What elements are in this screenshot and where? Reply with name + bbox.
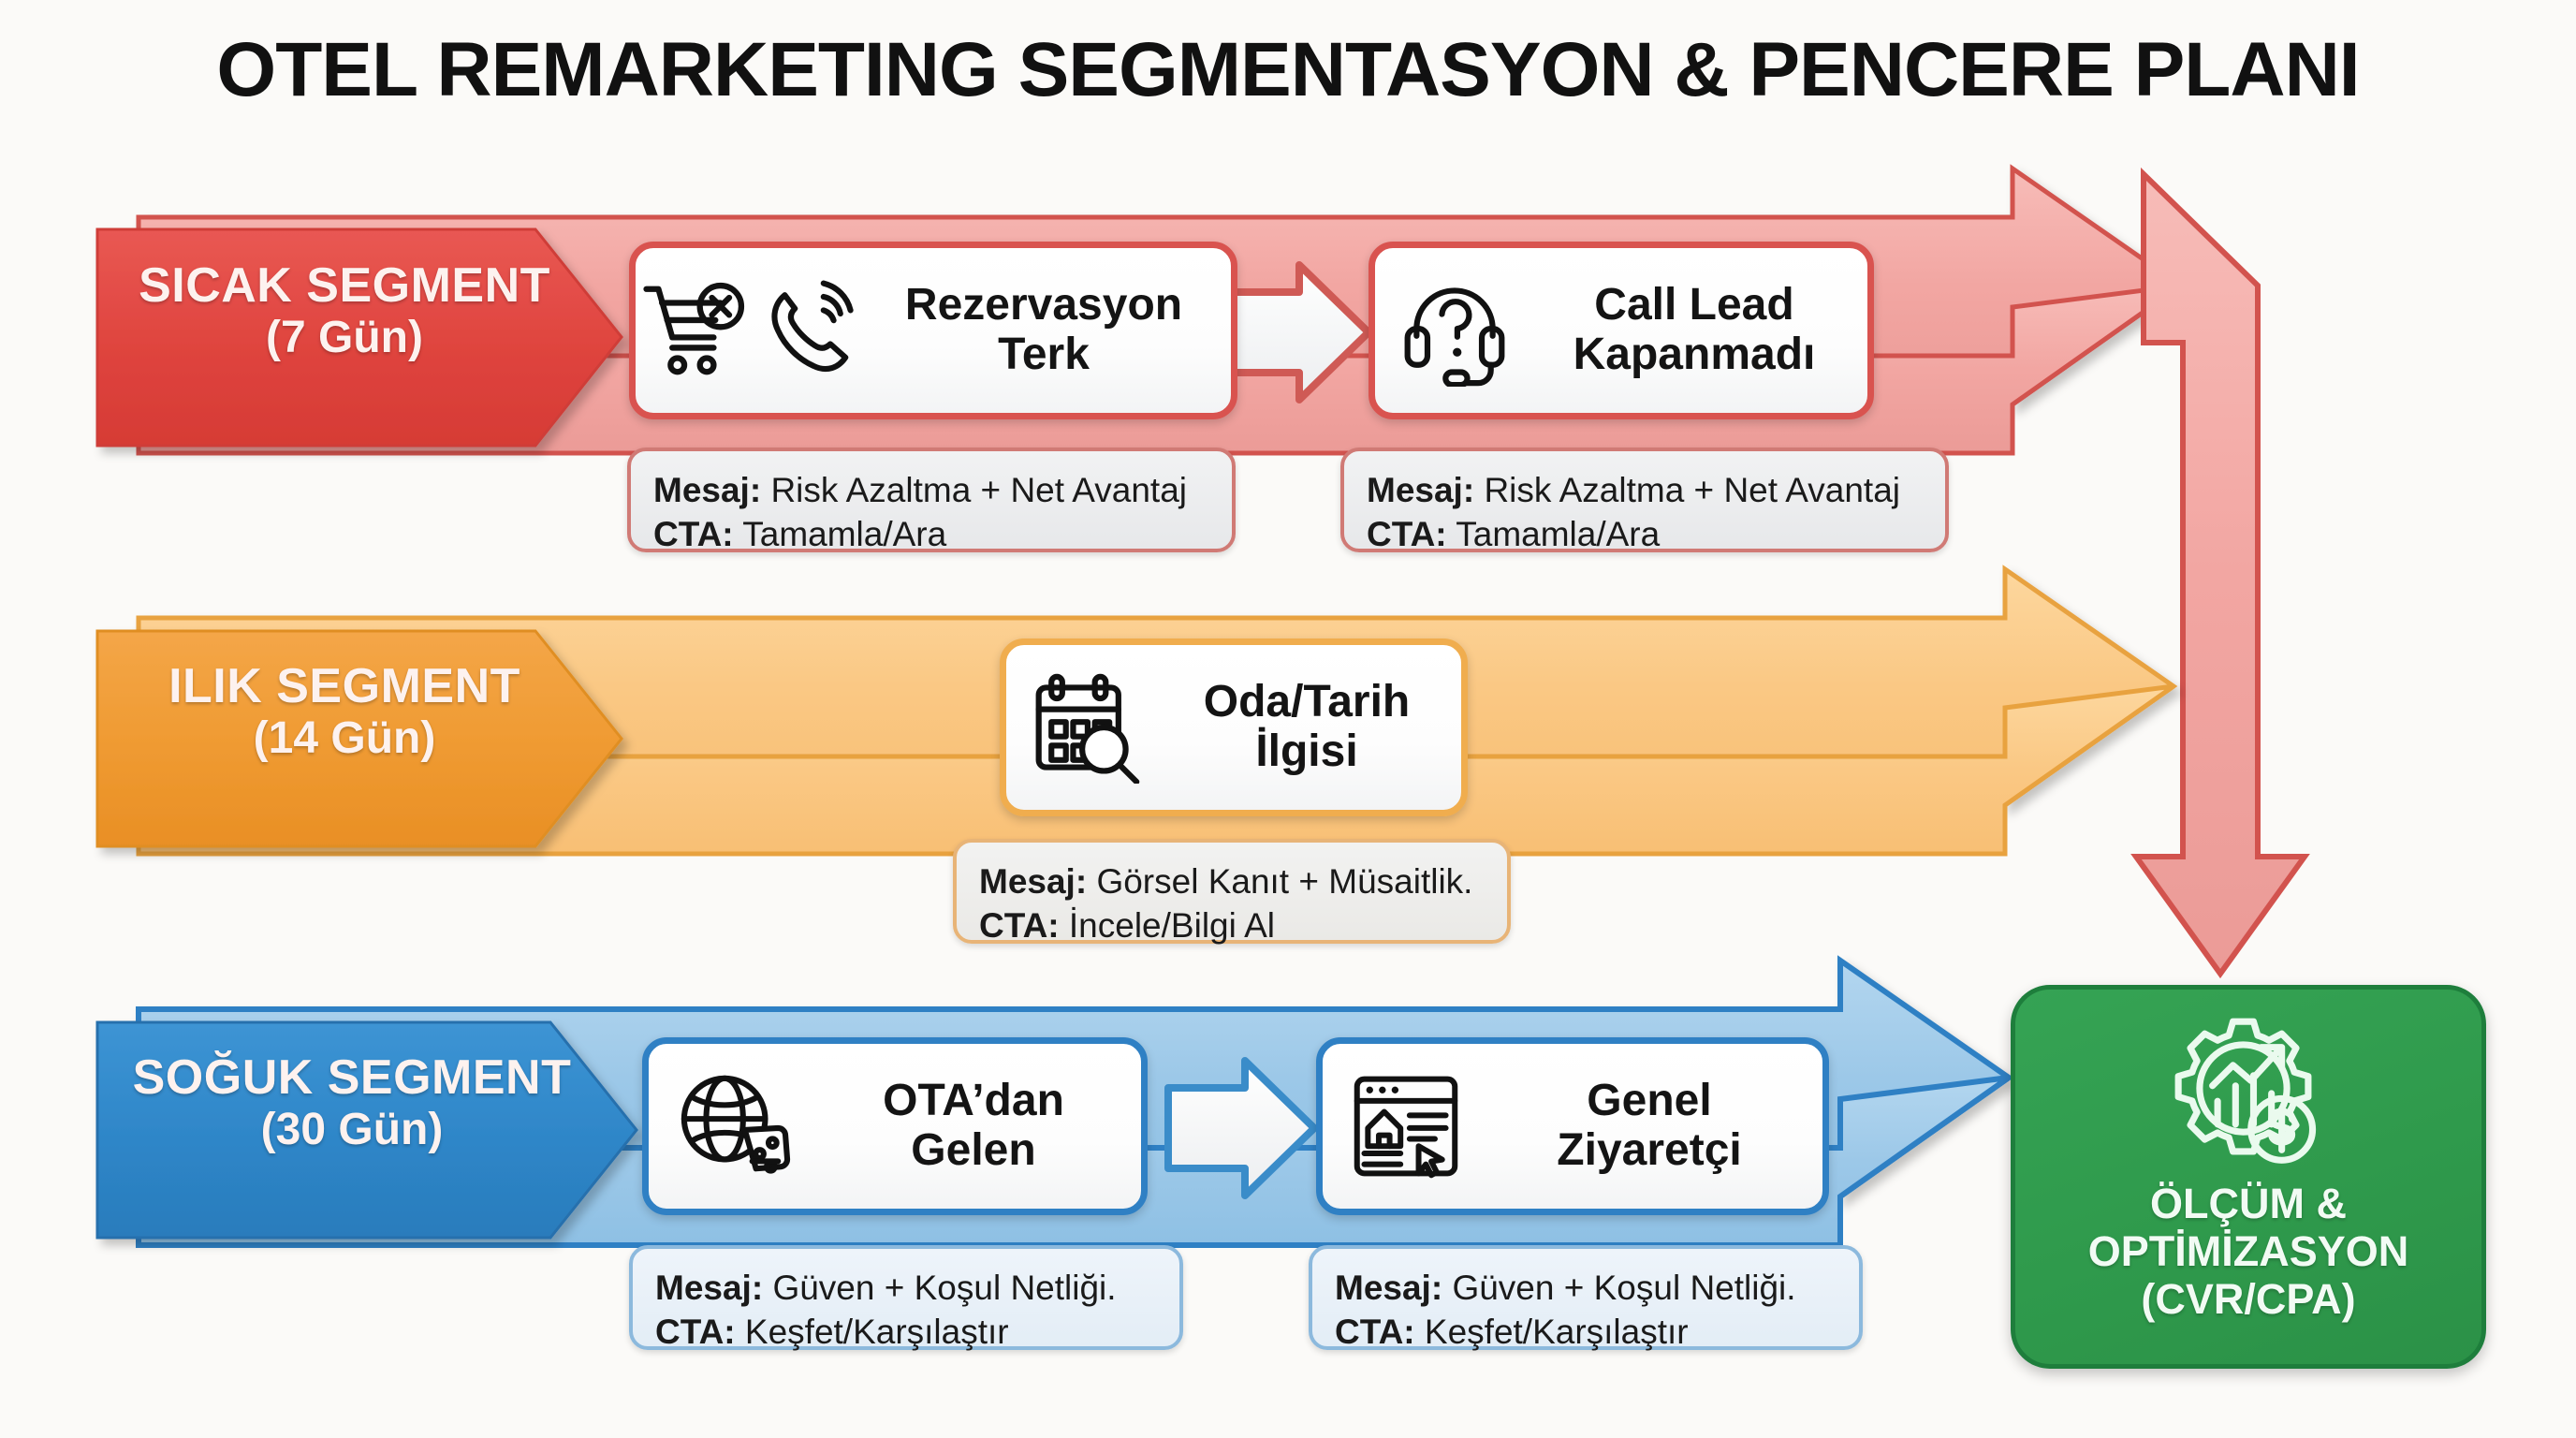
gear-growth-dollar-icon <box>2166 1014 2331 1173</box>
segment-label-hot-line2: (7 Gün) <box>110 313 578 363</box>
card-title-line1: Oda/Tarih <box>1204 677 1410 726</box>
cold-card-connector-arrow <box>1168 1061 1314 1196</box>
segment-label-warm-line2: (14 Gün) <box>110 713 578 764</box>
hot-band-to-outcome-connector <box>2087 169 2305 1041</box>
message-value: Güven + Koşul Netliği. <box>1452 1269 1795 1307</box>
card-title: Call Lead Kapanmadı <box>1534 281 1867 380</box>
abandoned-cart-icon <box>641 278 752 383</box>
cta-value: Keşfet/Karşılaştır <box>745 1313 1009 1351</box>
cta-line: CTA: Keşfet/Karşılaştır <box>655 1310 1161 1354</box>
message-label: Mesaj: <box>1335 1269 1442 1307</box>
segment-label-hot: SICAK SEGMENT (7 Gün) <box>110 258 578 363</box>
message-line: Mesaj: Görsel Kanıt + Müsaitlik. <box>979 859 1488 903</box>
card-otadan-gelen[interactable]: OTA’dan Gelen <box>642 1037 1148 1215</box>
cta-label: CTA: <box>1367 515 1447 553</box>
message-value: Risk Azaltma + Net Avantaj <box>1484 471 1900 509</box>
cta-label: CTA: <box>655 1313 736 1351</box>
segment-label-hot-line1: SICAK SEGMENT <box>110 258 578 313</box>
segment-label-warm: ILIK SEGMENT (14 Gün) <box>110 659 578 764</box>
cta-line: CTA: Tamamla/Ara <box>1367 512 1926 556</box>
cta-value: İncele/Bilgi Al <box>1069 906 1275 945</box>
cta-label: CTA: <box>979 906 1060 945</box>
ringing-phone-icon <box>763 278 864 383</box>
card-title-line1: Genel <box>1587 1076 1711 1125</box>
cta-line: CTA: Keşfet/Karşılaştır <box>1335 1310 1840 1354</box>
message-box-hot-1: Mesaj: Risk Azaltma + Net Avantaj CTA: T… <box>627 448 1236 552</box>
message-label: Mesaj: <box>655 1269 763 1307</box>
segment-label-warm-line1: ILIK SEGMENT <box>110 659 578 713</box>
card-icon-group <box>636 278 870 383</box>
card-title-line1: Call Lead <box>1594 280 1793 330</box>
message-label: Mesaj: <box>653 471 761 509</box>
card-title-line2: İlgisi <box>1255 726 1357 776</box>
card-title: OTA’dan Gelen <box>819 1077 1141 1176</box>
card-title: Rezervasyon Terk <box>870 281 1231 380</box>
segment-label-cold-line2: (30 Gün) <box>109 1105 595 1155</box>
outcome-title: ÖLÇÜM & OPTİMİZASYON (CVR/CPA) <box>2088 1181 2409 1324</box>
card-title: Oda/Tarih İlgisi <box>1165 678 1461 777</box>
cta-value: Keşfet/Karşılaştır <box>1425 1313 1689 1351</box>
card-title-line2: Terk <box>998 330 1090 379</box>
cta-line: CTA: İncele/Bilgi Al <box>979 903 1488 947</box>
segment-label-cold-line1: SOĞUK SEGMENT <box>109 1050 595 1105</box>
message-label: Mesaj: <box>979 862 1087 901</box>
cta-value: Tamamla/Ara <box>742 515 946 553</box>
cta-value: Tamamla/Ara <box>1456 515 1660 553</box>
hot-card-connector-arrow <box>1222 265 1368 400</box>
message-value: Risk Azaltma + Net Avantaj <box>770 471 1187 509</box>
cta-line: CTA: Tamamla/Ara <box>653 512 1213 556</box>
infographic-canvas: OTEL REMARKETING SEGMENTASYON & PENCERE … <box>0 0 2576 1438</box>
card-title-line2: Ziyaretçi <box>1557 1125 1741 1175</box>
card-icon-group <box>649 1069 819 1183</box>
message-value: Görsel Kanıt + Müsaitlik. <box>1096 862 1472 901</box>
message-line: Mesaj: Güven + Koşul Netliği. <box>655 1266 1161 1310</box>
globe-pricetag-icon <box>674 1069 794 1183</box>
card-genel-ziyaretci[interactable]: Genel Ziyaretçi <box>1316 1037 1829 1215</box>
message-line: Mesaj: Güven + Koşul Netliği. <box>1335 1266 1840 1310</box>
outcome-line1: ÖLÇÜM & <box>2088 1181 2409 1228</box>
card-oda-tarih-ilgisi[interactable]: Oda/Tarih İlgisi <box>1000 638 1468 816</box>
calendar-search-icon <box>1028 671 1144 784</box>
cta-label: CTA: <box>653 515 734 553</box>
cta-label: CTA: <box>1335 1313 1415 1351</box>
card-rezervasyon-terk[interactable]: Rezervasyon Terk <box>629 242 1237 419</box>
card-title: Genel Ziyaretçi <box>1489 1077 1822 1176</box>
message-box-cold-1: Mesaj: Güven + Koşul Netliği. CTA: Keşfe… <box>629 1245 1183 1350</box>
card-title-line2: Gelen <box>911 1125 1035 1175</box>
outcome-line3: (CVR/CPA) <box>2088 1276 2409 1324</box>
page-title: OTEL REMARKETING SEGMENTASYON & PENCERE … <box>0 26 2576 114</box>
segment-label-cold: SOĞUK SEGMENT (30 Gün) <box>109 1050 595 1155</box>
message-box-cold-2: Mesaj: Güven + Koşul Netliği. CTA: Keşfe… <box>1309 1245 1863 1350</box>
card-title-line1: OTA’dan <box>883 1076 1064 1125</box>
card-icon-group <box>1323 1070 1489 1182</box>
card-call-lead-kapanmadi[interactable]: Call Lead Kapanmadı <box>1368 242 1874 419</box>
message-box-warm-1: Mesaj: Görsel Kanıt + Müsaitlik. CTA: İn… <box>953 839 1511 944</box>
card-title-line2: Kapanmadı <box>1573 330 1816 379</box>
message-label: Mesaj: <box>1367 471 1474 509</box>
message-line: Mesaj: Risk Azaltma + Net Avantaj <box>1367 468 1926 512</box>
card-icon-group <box>1006 671 1165 784</box>
card-icon-group <box>1375 274 1534 387</box>
message-box-hot-2: Mesaj: Risk Azaltma + Net Avantaj CTA: T… <box>1340 448 1949 552</box>
headset-question-icon <box>1398 274 1512 387</box>
outcome-box-olcum-optimizasyon[interactable]: ÖLÇÜM & OPTİMİZASYON (CVR/CPA) <box>2011 985 2486 1369</box>
browser-home-cursor-icon <box>1348 1070 1464 1182</box>
outcome-line2: OPTİMİZASYON <box>2088 1228 2409 1276</box>
message-value: Güven + Koşul Netliği. <box>772 1269 1116 1307</box>
card-title-line1: Rezervasyon <box>905 280 1182 330</box>
message-line: Mesaj: Risk Azaltma + Net Avantaj <box>653 468 1213 512</box>
